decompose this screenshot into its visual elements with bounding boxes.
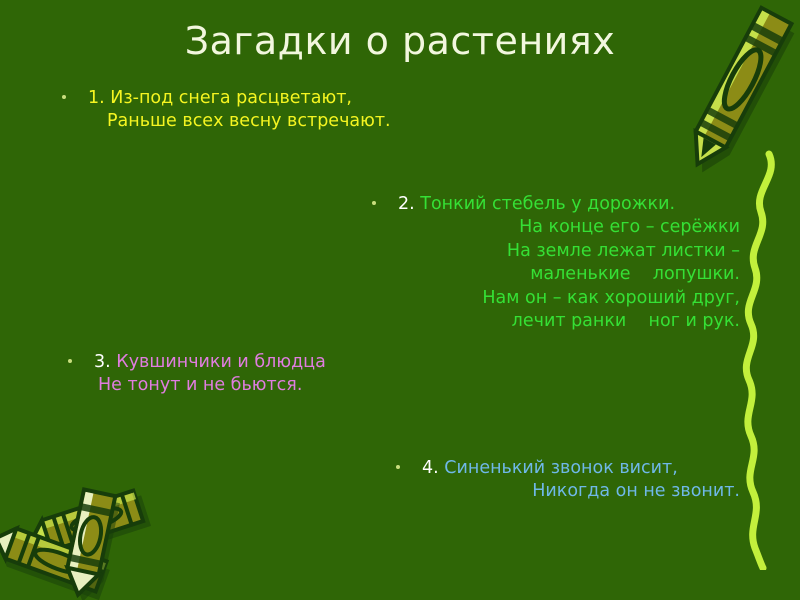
riddle-first-line: 3. Кувшинчики и блюдца [68, 350, 326, 374]
page-title: Загадки о растениях [0, 18, 800, 64]
wavy-line-icon [735, 150, 799, 570]
riddle-first-line: 4. Синенький звонок висит, [396, 456, 740, 480]
bullet-icon [62, 86, 88, 110]
riddle-line-text: маленькие лопушки. [372, 263, 740, 287]
riddle-number: 4. [422, 458, 439, 478]
riddle-line-text: Нам он – как хороший друг, [372, 287, 740, 311]
riddle-line-text: На земле лежат листки – [372, 240, 740, 264]
riddle-line-text: Раньше всех весну встречают. [62, 110, 391, 134]
crossed-crayons-icon [0, 478, 184, 600]
riddle-number: 1. [88, 88, 105, 108]
riddle-line-text: Никогда он не звонит. [396, 480, 740, 504]
riddle-number: 3. [94, 352, 111, 372]
bullet-icon [68, 350, 94, 374]
riddle-line-text: Тонкий стебель у дорожки. [420, 194, 675, 214]
riddle-line-text: Из-под снега расцветают, [110, 88, 352, 108]
riddle-number: 2. [398, 194, 415, 214]
riddle-item-4: 4. Синенький звонок висит, Никогда он не… [396, 456, 740, 504]
riddle-line-text: Не тонут и не бьются. [68, 374, 326, 398]
riddle-item-2: 2. Тонкий стебель у дорожки. На конце ег… [372, 192, 740, 334]
presentation-slide: Загадки о растениях 1. Из-под снега расц… [0, 0, 800, 600]
riddle-first-line: 1. Из-под снега расцветают, [62, 86, 391, 110]
riddle-line-text: лечит ранки ног и рук. [372, 310, 740, 334]
bullet-icon [372, 192, 398, 216]
riddle-line-text: Кувшинчики и блюдца [116, 352, 326, 372]
riddle-item-3: 3. Кувшинчики и блюдца Не тонут и не бью… [68, 350, 326, 398]
bullet-icon [396, 456, 422, 480]
riddle-item-1: 1. Из-под снега расцветают, Раньше всех … [62, 86, 391, 134]
riddle-line-text: Синенький звонок висит, [444, 458, 677, 478]
riddle-line-text: На конце его – серёжки [372, 216, 740, 240]
riddle-first-line: 2. Тонкий стебель у дорожки. [372, 192, 740, 216]
